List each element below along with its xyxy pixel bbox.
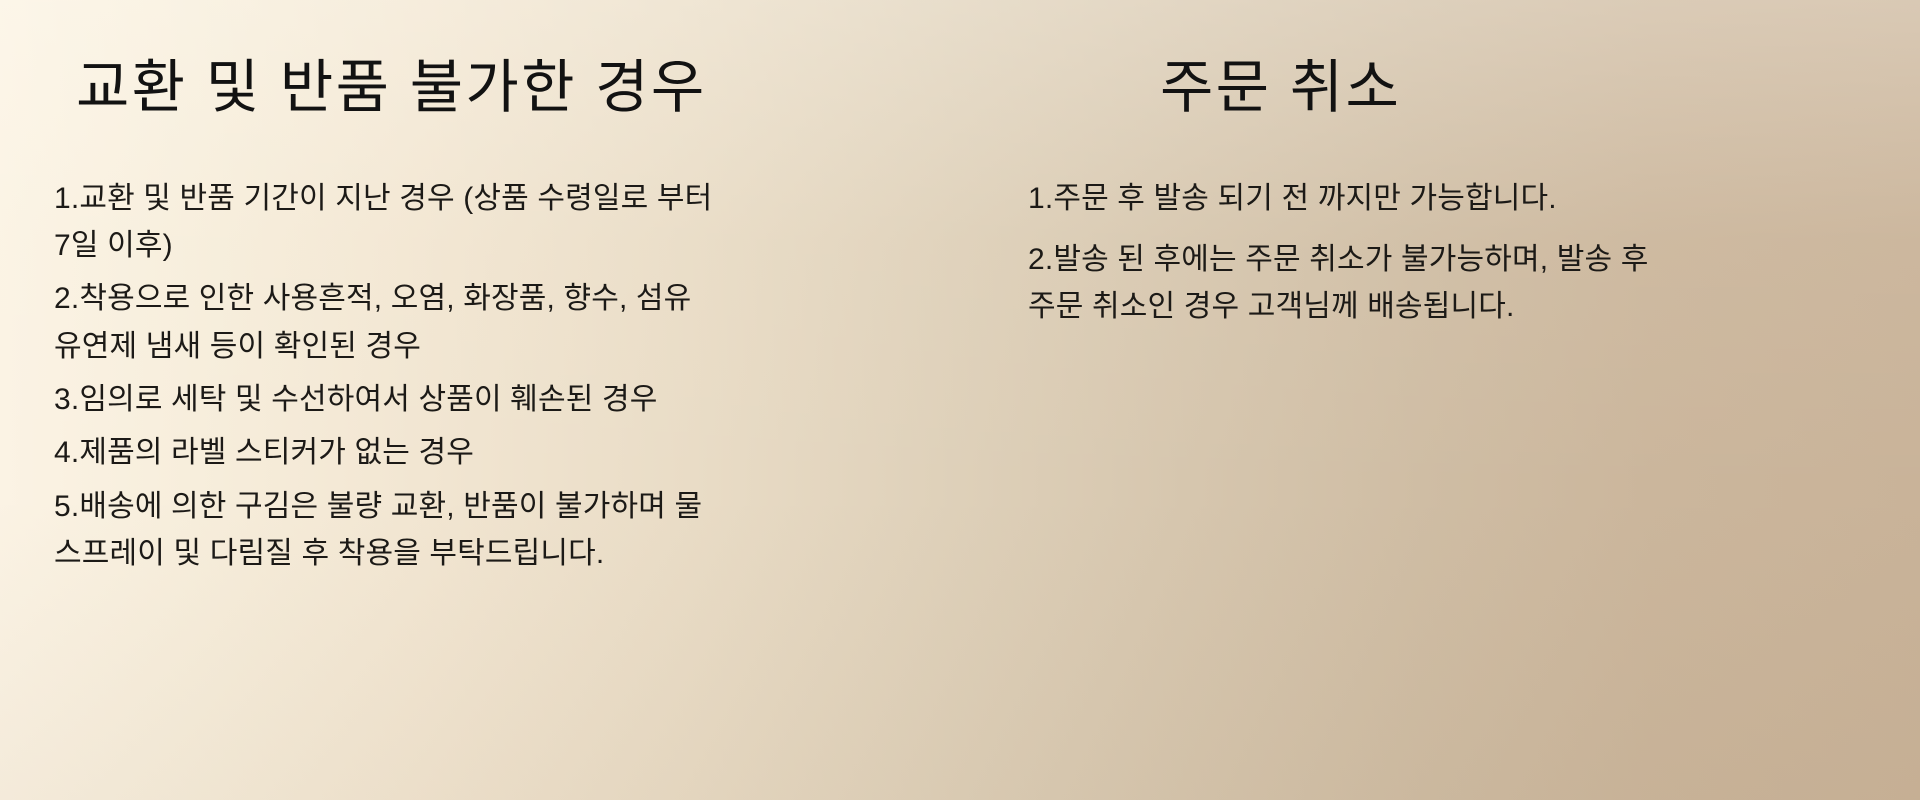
list-item: 1.주문 후 발송 되기 전 까지만 가능합니다.	[1028, 175, 1920, 222]
notice-columns: 교환 및 반품 불가한 경우 1.교환 및 반품 기간이 지난 경우 (상품 수…	[0, 0, 1920, 800]
list-item: 4.제품의 라벨 스티커가 없는 경우	[54, 429, 1010, 476]
column-exchange-return: 교환 및 반품 불가한 경우 1.교환 및 반품 기간이 지난 경우 (상품 수…	[0, 0, 1010, 800]
column-order-cancel: 주문 취소 1.주문 후 발송 되기 전 까지만 가능합니다. 2.발송 된 후…	[1010, 0, 1920, 800]
list-item: 5.배송에 의한 구김은 불량 교환, 반품이 불가하며 물 스프레이 및 다림…	[54, 483, 1010, 578]
page-title-exchange-return: 교환 및 반품 불가한 경우	[0, 52, 1010, 125]
list-item: 1.교환 및 반품 기간이 지난 경우 (상품 수령일로 부터 7일 이후)	[54, 175, 1010, 270]
notice-list-exchange-return: 1.교환 및 반품 기간이 지난 경우 (상품 수령일로 부터 7일 이후) 2…	[0, 175, 1010, 578]
page-title-order-cancel: 주문 취소	[1010, 52, 1920, 125]
notice-list-order-cancel: 1.주문 후 발송 되기 전 까지만 가능합니다. 2.발송 된 후에는 주문 …	[1010, 175, 1920, 331]
list-item: 2.착용으로 인한 사용흔적, 오염, 화장품, 향수, 섬유 유연제 냄새 등…	[54, 275, 1010, 370]
list-item: 2.발송 된 후에는 주문 취소가 불가능하며, 발송 후 주문 취소인 경우 …	[1028, 236, 1920, 331]
list-item: 3.임의로 세탁 및 수선하여서 상품이 훼손된 경우	[54, 376, 1010, 423]
notice-page: 교환 및 반품 불가한 경우 1.교환 및 반품 기간이 지난 경우 (상품 수…	[0, 0, 1920, 800]
